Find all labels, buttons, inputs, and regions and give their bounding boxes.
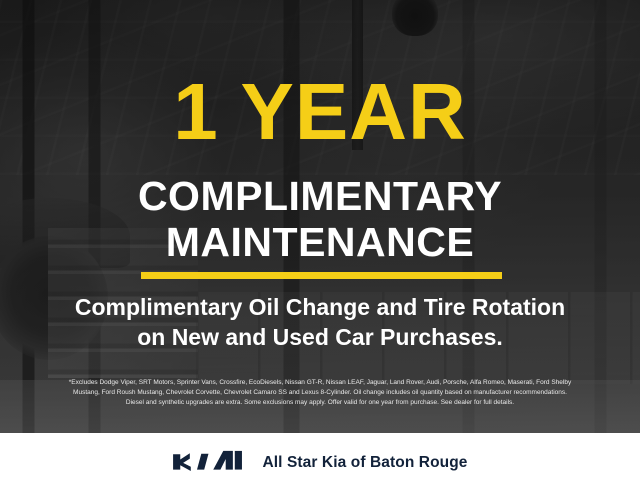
subheadline: Complimentary Oil Change and Tire Rotati…: [0, 292, 640, 352]
dealer-name: All Star Kia of Baton Rouge: [262, 454, 467, 472]
disclaimer-line-1: *Excludes Dodge Viper, SRT Motors, Sprin…: [14, 378, 626, 388]
kia-logo-icon: [172, 449, 244, 476]
disclaimer-line-3: Diesel and synthetic upgrades are extra.…: [14, 398, 626, 408]
headline-maintenance: MAINTENANCE: [0, 222, 640, 263]
headline-one-year: 1 YEAR: [0, 72, 640, 152]
subheadline-line-2: on New and Used Car Purchases.: [0, 322, 640, 352]
hero-background-image: 1 YEAR COMPLIMENTARY MAINTENANCE Complim…: [0, 0, 640, 433]
headline-complimentary: COMPLIMENTARY: [0, 176, 640, 217]
footer-brand-group: All Star Kia of Baton Rouge: [172, 449, 467, 476]
disclaimer-line-2: Mustang, Ford Roush Mustang, Chevrolet C…: [14, 388, 626, 398]
promotional-banner: 1 YEAR COMPLIMENTARY MAINTENANCE Complim…: [0, 0, 640, 488]
subheadline-line-1: Complimentary Oil Change and Tire Rotati…: [0, 292, 640, 322]
yellow-divider-bar: [141, 272, 502, 279]
disclaimer-text: *Excludes Dodge Viper, SRT Motors, Sprin…: [14, 378, 626, 409]
footer-bar: All Star Kia of Baton Rouge: [0, 433, 640, 488]
banner-copy: 1 YEAR COMPLIMENTARY MAINTENANCE Complim…: [0, 0, 640, 433]
